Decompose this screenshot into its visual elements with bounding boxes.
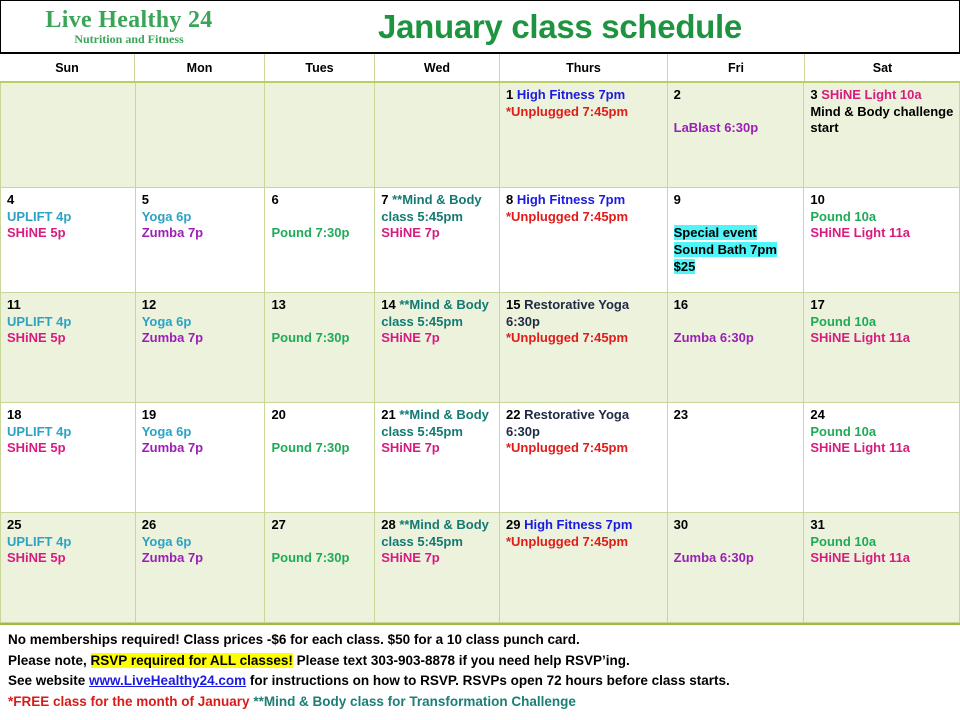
footer-rsvp-suffix: Please text 303-903-8878 if you need hel… — [293, 653, 630, 668]
page-header: Live Healthy 24 Nutrition and Fitness Ja… — [0, 0, 960, 54]
class-entry: Zumba 7p — [142, 550, 203, 565]
calendar-day-17[interactable]: 17Pound 10aSHiNE Light 11a — [804, 293, 959, 402]
class-entry: High Fitness 7pm — [513, 192, 625, 207]
calendar-day-9[interactable]: 9 Special event Sound Bath 7pm $25 — [668, 188, 805, 292]
day-header-sun: Sun — [0, 54, 135, 81]
calendar-day-19[interactable]: 19Yoga 6pZumba 7p — [136, 403, 266, 512]
day-number: 18 — [7, 407, 21, 422]
class-entry: Zumba 7p — [142, 330, 203, 345]
day-number: 28 — [381, 517, 395, 532]
day-number: 25 — [7, 517, 21, 532]
class-entry: Yoga 6p — [142, 534, 192, 549]
spacer-line — [271, 534, 369, 551]
spacer-line — [271, 314, 369, 331]
class-entry: SHiNE Light 11a — [810, 225, 910, 240]
legend-mind-body: **Mind & Body class for Transformation C… — [250, 694, 576, 709]
calendar-day-29[interactable]: 29 High Fitness 7pm*Unplugged 7:45pm — [500, 513, 668, 622]
class-entry: Special event Sound Bath 7pm $25 — [674, 225, 777, 273]
class-entry: Pound 10a — [810, 424, 876, 439]
class-entry: Mind & Body challenge start — [810, 104, 953, 136]
day-number: 31 — [810, 517, 824, 532]
spacer-line — [271, 209, 369, 226]
day-number: 5 — [142, 192, 149, 207]
calendar-day-22[interactable]: 22 Restorative Yoga 6:30p*Unplugged 7:45… — [500, 403, 668, 512]
day-header-tues: Tues — [265, 54, 375, 81]
class-entry: SHiNE 5p — [7, 440, 66, 455]
footer-rsvp-prefix: Please note, — [8, 653, 91, 668]
day-number: 13 — [271, 297, 285, 312]
spacer-line — [674, 209, 799, 226]
day-number: 19 — [142, 407, 156, 422]
calendar-week-row: 18UPLIFT 4pSHiNE 5p19Yoga 6pZumba 7p20 P… — [1, 403, 959, 513]
calendar-day-empty — [1, 83, 136, 187]
logo-primary-text: Live Healthy 24 — [7, 8, 251, 32]
day-number: 26 — [142, 517, 156, 532]
legend-free-class: *FREE class for the month of January — [8, 694, 250, 709]
day-number: 14 — [381, 297, 395, 312]
class-entry: SHiNE 7p — [381, 330, 440, 345]
class-entry: UPLIFT 4p — [7, 534, 71, 549]
calendar-day-empty — [375, 83, 500, 187]
spacer-line — [674, 104, 799, 121]
day-header-fri: Fri — [668, 54, 805, 81]
day-number: 3 — [810, 87, 817, 102]
class-entry: Yoga 6p — [142, 314, 192, 329]
day-header-wed: Wed — [375, 54, 500, 81]
calendar-day-7[interactable]: 7 **Mind & Body class 5:45pmSHiNE 7p — [375, 188, 500, 292]
calendar-day-18[interactable]: 18UPLIFT 4pSHiNE 5p — [1, 403, 136, 512]
day-number: 12 — [142, 297, 156, 312]
class-entry: SHiNE 7p — [381, 440, 440, 455]
class-entry: LaBlast 6:30p — [674, 120, 759, 135]
day-number: 20 — [271, 407, 285, 422]
day-number: 30 — [674, 517, 688, 532]
calendar-day-empty — [265, 83, 375, 187]
class-entry: High Fitness 7pm — [520, 517, 632, 532]
class-entry: SHiNE 5p — [7, 330, 66, 345]
calendar-day-11[interactable]: 11UPLIFT 4pSHiNE 5p — [1, 293, 136, 402]
class-entry: *Unplugged 7:45pm — [506, 104, 628, 119]
class-entry: Zumba 7p — [142, 225, 203, 240]
footer-line-legend: *FREE class for the month of January **M… — [8, 692, 952, 713]
footer-notes: No memberships required! Class prices -$… — [0, 623, 960, 715]
class-entry: Pound 10a — [810, 314, 876, 329]
calendar-day-28[interactable]: 28 **Mind & Body class 5:45pmSHiNE 7p — [375, 513, 500, 622]
day-number: 15 — [506, 297, 520, 312]
class-entry: SHiNE Light 11a — [810, 550, 910, 565]
class-entry: Pound 10a — [810, 209, 876, 224]
class-entry: Pound 7:30p — [271, 225, 349, 240]
day-number: 17 — [810, 297, 824, 312]
calendar-day-empty — [136, 83, 266, 187]
footer-website-prefix: See website — [8, 673, 89, 688]
calendar-day-23[interactable]: 23 — [668, 403, 805, 512]
class-entry: SHiNE 7p — [381, 225, 440, 240]
class-entry: Yoga 6p — [142, 424, 192, 439]
class-entry: **Mind & Body class 5:45pm — [381, 297, 489, 329]
class-entry: High Fitness 7pm — [513, 87, 625, 102]
spacer-line — [674, 534, 799, 551]
class-entry: Pound 7:30p — [271, 550, 349, 565]
class-entry: UPLIFT 4p — [7, 209, 71, 224]
day-number: 16 — [674, 297, 688, 312]
day-number: 2 — [674, 87, 681, 102]
class-entry: Pound 7:30p — [271, 440, 349, 455]
day-number: 22 — [506, 407, 520, 422]
calendar-week-row: 25UPLIFT 4pSHiNE 5p26Yoga 6pZumba 7p27 P… — [1, 513, 959, 623]
calendar-day-26[interactable]: 26Yoga 6pZumba 7p — [136, 513, 266, 622]
day-number: 6 — [271, 192, 278, 207]
class-entry: Yoga 6p — [142, 209, 192, 224]
class-entry: Restorative Yoga 6:30p — [506, 407, 629, 439]
class-entry: **Mind & Body class 5:45pm — [381, 192, 481, 224]
day-number: 9 — [674, 192, 681, 207]
calendar-day-13[interactable]: 13 Pound 7:30p — [265, 293, 375, 402]
spacer-line — [271, 424, 369, 441]
day-number: 11 — [7, 297, 21, 312]
calendar-page: Live Healthy 24 Nutrition and Fitness Ja… — [0, 0, 960, 720]
class-entry: SHiNE 7p — [381, 550, 440, 565]
class-entry: Zumba 6:30p — [674, 550, 754, 565]
spacer-line — [674, 314, 799, 331]
class-entry: **Mind & Body class 5:45pm — [381, 407, 489, 439]
class-entry: *Unplugged 7:45pm — [506, 534, 628, 549]
class-entry: Zumba 7p — [142, 440, 203, 455]
website-link[interactable]: www.LiveHealthy24.com — [89, 673, 246, 688]
class-entry: SHiNE Light 11a — [810, 440, 910, 455]
logo-tagline: Nutrition and Fitness — [7, 33, 251, 45]
calendar-day-5[interactable]: 5Yoga 6pZumba 7p — [136, 188, 266, 292]
calendar-day-20[interactable]: 20 Pound 7:30p — [265, 403, 375, 512]
class-entry: Pound 7:30p — [271, 330, 349, 345]
footer-line-rsvp: Please note, RSVP required for ALL class… — [8, 651, 952, 672]
calendar-day-2[interactable]: 2 LaBlast 6:30p — [668, 83, 805, 187]
class-entry: **Mind & Body class 5:45pm — [381, 517, 489, 549]
calendar-day-8[interactable]: 8 High Fitness 7pm*Unplugged 7:45pm — [500, 188, 668, 292]
calendar-day-21[interactable]: 21 **Mind & Body class 5:45pmSHiNE 7p — [375, 403, 500, 512]
calendar-day-30[interactable]: 30 Zumba 6:30p — [668, 513, 805, 622]
class-entry: Zumba 6:30p — [674, 330, 754, 345]
brand-logo: Live Healthy 24 Nutrition and Fitness — [1, 8, 251, 45]
page-title: January class schedule — [251, 8, 959, 46]
calendar-week-row: 1 High Fitness 7pm*Unplugged 7:45pm2 LaB… — [1, 83, 959, 188]
calendar-day-1[interactable]: 1 High Fitness 7pm*Unplugged 7:45pm — [500, 83, 668, 187]
class-entry: *Unplugged 7:45pm — [506, 440, 628, 455]
class-entry: UPLIFT 4p — [7, 314, 71, 329]
day-number: 24 — [810, 407, 824, 422]
calendar-day-6[interactable]: 6 Pound 7:30p — [265, 188, 375, 292]
class-entry: Restorative Yoga 6:30p — [506, 297, 629, 329]
day-header-thurs: Thurs — [500, 54, 668, 81]
class-entry: UPLIFT 4p — [7, 424, 71, 439]
calendar-day-24[interactable]: 24Pound 10aSHiNE Light 11a — [804, 403, 959, 512]
calendar-day-16[interactable]: 16 Zumba 6:30p — [668, 293, 805, 402]
day-number: 21 — [381, 407, 395, 422]
day-number: 10 — [810, 192, 824, 207]
calendar-week-row: 11UPLIFT 4pSHiNE 5p12Yoga 6pZumba 7p13 P… — [1, 293, 959, 403]
class-entry: *Unplugged 7:45pm — [506, 209, 628, 224]
calendar-day-27[interactable]: 27 Pound 7:30p — [265, 513, 375, 622]
day-number: 23 — [674, 407, 688, 422]
class-entry: SHiNE Light 10a — [818, 87, 922, 102]
day-header-sat: Sat — [805, 54, 960, 81]
calendar-day-10[interactable]: 10Pound 10aSHiNE Light 11a — [804, 188, 959, 292]
calendar-day-14[interactable]: 14 **Mind & Body class 5:45pmSHiNE 7p — [375, 293, 500, 402]
class-entry: *Unplugged 7:45pm — [506, 330, 628, 345]
footer-line-website: See website www.LiveHealthy24.com for in… — [8, 671, 952, 692]
calendar-grid: 1 High Fitness 7pm*Unplugged 7:45pm2 LaB… — [0, 83, 960, 623]
class-entry: SHiNE Light 11a — [810, 330, 910, 345]
class-entry: Pound 10a — [810, 534, 876, 549]
day-number: 29 — [506, 517, 520, 532]
class-entry: SHiNE 5p — [7, 550, 66, 565]
footer-line-pricing: No memberships required! Class prices -$… — [8, 630, 952, 651]
class-entry: SHiNE 5p — [7, 225, 66, 240]
day-number: 27 — [271, 517, 285, 532]
day-number: 4 — [7, 192, 14, 207]
footer-website-suffix: for instructions on how to RSVP. RSVPs o… — [246, 673, 730, 688]
calendar-day-12[interactable]: 12Yoga 6pZumba 7p — [136, 293, 266, 402]
calendar-day-15[interactable]: 15 Restorative Yoga 6:30p*Unplugged 7:45… — [500, 293, 668, 402]
day-header-mon: Mon — [135, 54, 265, 81]
calendar-day-25[interactable]: 25UPLIFT 4pSHiNE 5p — [1, 513, 136, 622]
calendar-day-31[interactable]: 31Pound 10aSHiNE Light 11a — [804, 513, 959, 622]
day-of-week-header-row: SunMonTuesWedThursFriSat — [0, 54, 960, 83]
footer-rsvp-highlight: RSVP required for ALL classes! — [91, 653, 293, 668]
calendar-day-4[interactable]: 4UPLIFT 4pSHiNE 5p — [1, 188, 136, 292]
calendar-week-row: 4UPLIFT 4pSHiNE 5p5Yoga 6pZumba 7p6 Poun… — [1, 188, 959, 293]
calendar-day-3[interactable]: 3 SHiNE Light 10aMind & Body challenge s… — [804, 83, 959, 187]
